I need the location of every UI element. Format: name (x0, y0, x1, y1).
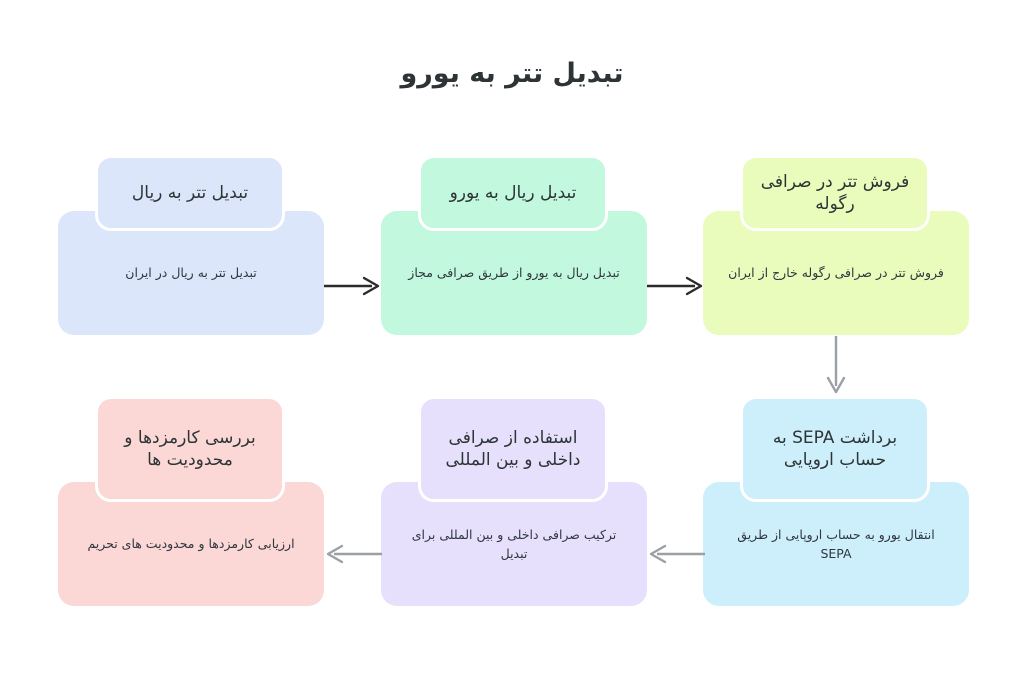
flow-node-1-body-text: تبدیل تتر به ریال در ایران (80, 263, 302, 282)
arrow-node3-to-node4 (822, 336, 850, 396)
flow-node-2-header-card: تبدیل ریال به یورو (418, 155, 608, 231)
arrow-right-icon (324, 272, 382, 300)
flow-node-5-header-card: استفاده از صرافی داخلی و بین المللی (418, 396, 608, 502)
flow-node-3-header-text: فروش تتر در صرافی رگوله (757, 171, 913, 216)
arrow-down-icon (822, 336, 850, 396)
flow-node-6[interactable]: ارزیابی کارمزدها و محدودیت های تحریم برر… (58, 396, 324, 606)
flow-node-6-body-text: ارزیابی کارمزدها و محدودیت های تحریم (80, 534, 302, 553)
arrow-right-icon (647, 272, 705, 300)
diagram-canvas: تبدیل تتر به یورو تبدیل تتر به ریال در ا… (0, 0, 1024, 692)
flow-node-4-body-text: انتقال یورو به حساب اروپایی از طریق SEPA (725, 525, 947, 564)
arrow-node5-to-node6 (324, 540, 382, 568)
flow-node-6-header-text: بررسی کارمزدها و محدودیت ها (112, 427, 268, 472)
flow-node-4[interactable]: انتقال یورو به حساب اروپایی از طریق SEPA… (703, 396, 969, 606)
flow-node-1-header-text: تبدیل تتر به ریال (112, 182, 268, 204)
flow-node-6-header-card: بررسی کارمزدها و محدودیت ها (95, 396, 285, 502)
flow-node-1-header-card: تبدیل تتر به ریال (95, 155, 285, 231)
flow-node-3-header-card: فروش تتر در صرافی رگوله (740, 155, 930, 231)
page-title: تبدیل تتر به یورو (0, 58, 1024, 89)
flow-node-5-header-text: استفاده از صرافی داخلی و بین المللی (435, 427, 591, 472)
arrow-node1-to-node2 (324, 272, 382, 300)
flow-node-5[interactable]: ترکیب صرافی داخلی و بین المللی برای تبدی… (381, 396, 647, 606)
flow-node-3[interactable]: فروش تتر در صرافی رگوله خارج از ایران فر… (703, 155, 969, 335)
arrow-node4-to-node5 (647, 540, 705, 568)
flow-node-3-body-text: فروش تتر در صرافی رگوله خارج از ایران (725, 263, 947, 282)
flow-node-2-body-text: تبدیل ریال به یورو از طریق صرافی مجاز (403, 263, 625, 282)
arrow-left-icon (324, 540, 382, 568)
flow-node-5-body-text: ترکیب صرافی داخلی و بین المللی برای تبدی… (403, 525, 625, 564)
flow-node-1[interactable]: تبدیل تتر به ریال در ایران تبدیل تتر به … (58, 155, 324, 335)
arrow-left-icon (647, 540, 705, 568)
flow-node-4-header-text: برداشت SEPA به حساب اروپایی (757, 427, 913, 472)
arrow-node2-to-node3 (647, 272, 705, 300)
flow-node-2-header-text: تبدیل ریال به یورو (435, 182, 591, 204)
flow-node-4-header-card: برداشت SEPA به حساب اروپایی (740, 396, 930, 502)
flow-node-2[interactable]: تبدیل ریال به یورو از طریق صرافی مجاز تب… (381, 155, 647, 335)
